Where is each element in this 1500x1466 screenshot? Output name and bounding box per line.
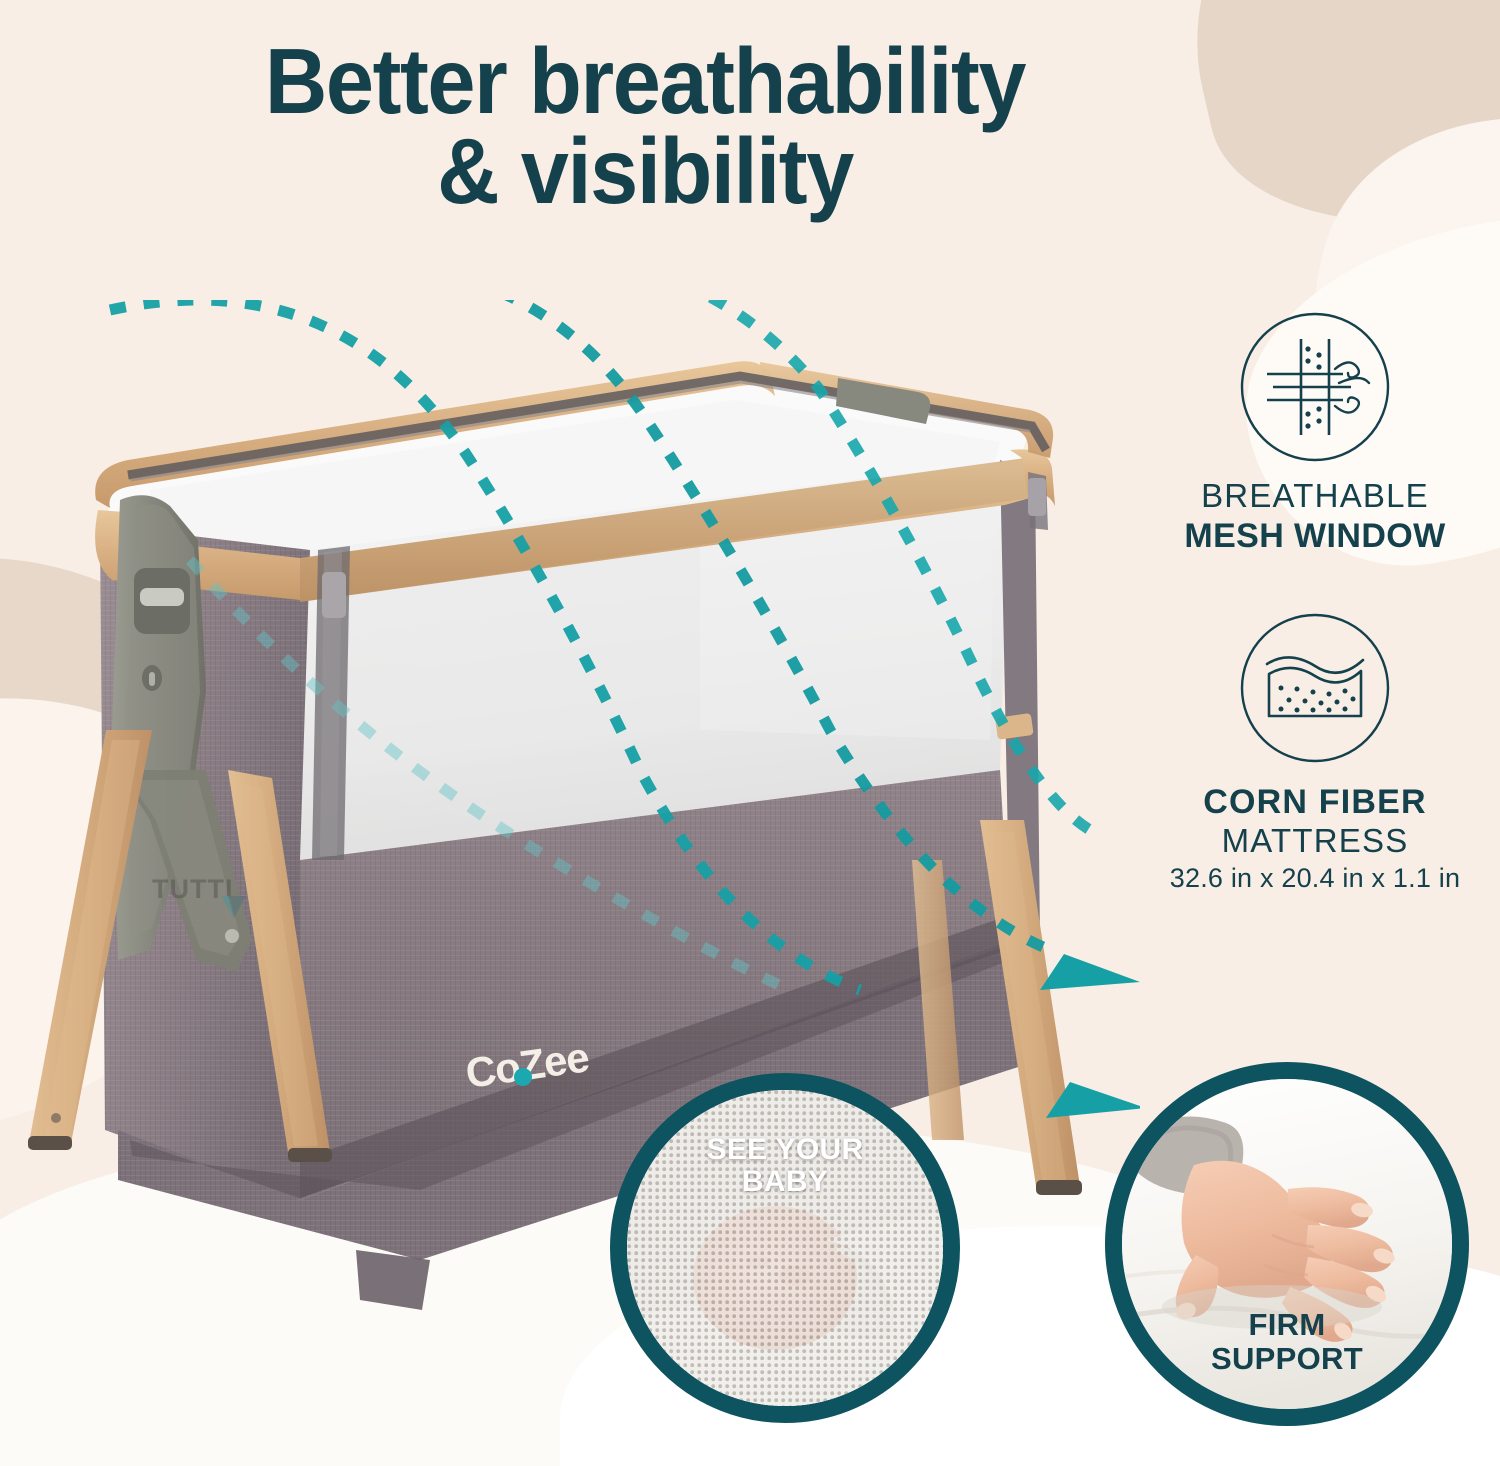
infographic-canvas: Better breathability & visibility: [0, 0, 1500, 1466]
feature-breathable-mesh-window: BREATHABLE MESH WINDOW: [1135, 311, 1495, 556]
feature-label-line2: MATTRESS: [1135, 822, 1495, 861]
feature-list: BREATHABLE MESH WINDOW: [1135, 305, 1495, 900]
airflow-mesh-icon: [1239, 311, 1391, 463]
badge-firm-support: FIRM SUPPORT: [1105, 1062, 1469, 1426]
badge-caption: FIRM SUPPORT: [1122, 1308, 1452, 1375]
arrowhead-right-top: [1040, 954, 1140, 990]
svg-text:TUTTI: TUTTI: [152, 874, 233, 904]
page-title: Better breathability & visibility: [45, 36, 1245, 216]
feature-label-line1: BREATHABLE: [1135, 477, 1495, 516]
feature-label-line1: CORN FIBER: [1135, 782, 1495, 822]
badge-see-your-baby: SEE YOUR BABY: [610, 1073, 960, 1423]
mattress-dimensions: 32.6 in x 20.4 in x 1.1 in: [1135, 863, 1495, 894]
mattress-icon: [1239, 612, 1391, 764]
product-photo-bedside-crib: TUTTI: [0, 300, 1140, 1370]
feature-corn-fiber-mattress: CORN FIBER MATTRESS 32.6 in x 20.4 in x …: [1135, 612, 1495, 894]
badge-caption: SEE YOUR BABY: [627, 1134, 943, 1199]
zipper-pull: [322, 572, 346, 618]
feature-label-line2: MESH WINDOW: [1135, 516, 1495, 556]
